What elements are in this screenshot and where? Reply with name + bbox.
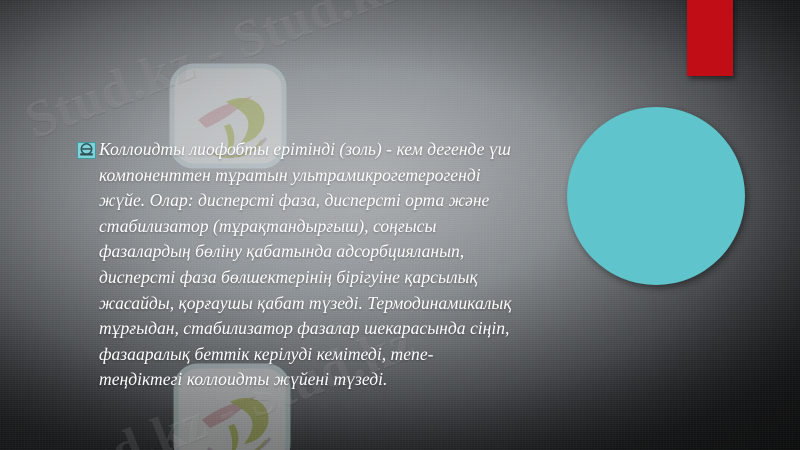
bullet-glyph-icon: [77, 142, 96, 159]
body-line-6: дисперсті фаза бөлшектерінің бірігуіне қ…: [99, 265, 659, 291]
body-line-9: фазааралық беттік керілуді кемітеді, теп…: [99, 342, 659, 368]
body-line-10: теңдіктегі коллоидты жүйені түзеді.: [99, 367, 659, 393]
slide-body-text: Коллоидты лиофобты ерітінді (золь) - кем…: [99, 137, 659, 393]
body-line-7: жасайды, қорғаушы қабат түзеді. Термодин…: [99, 291, 659, 317]
body-line-5: фазалардың бөліну қабатында адсорбциялан…: [99, 239, 659, 265]
body-line-8: тұрғыдан, стабилизатор фазалар шекарасын…: [99, 316, 659, 342]
body-line-2: компоненттен тұратын ультрамикрогетероге…: [99, 163, 659, 189]
presentation-slide: Stud.kz - Stud.kz Stud.kz - Stud.kz Колл…: [0, 0, 800, 450]
body-line-3: жүйе. Олар: дисперсті фаза, дисперсті ор…: [99, 188, 659, 214]
body-line-4: стабилизатор (тұрақтандырғыш), соңғысы: [99, 214, 659, 240]
red-rectangle-shape: [687, 0, 733, 76]
body-line-1: Коллоидты лиофобты ерітінді (золь) - кем…: [99, 137, 659, 163]
